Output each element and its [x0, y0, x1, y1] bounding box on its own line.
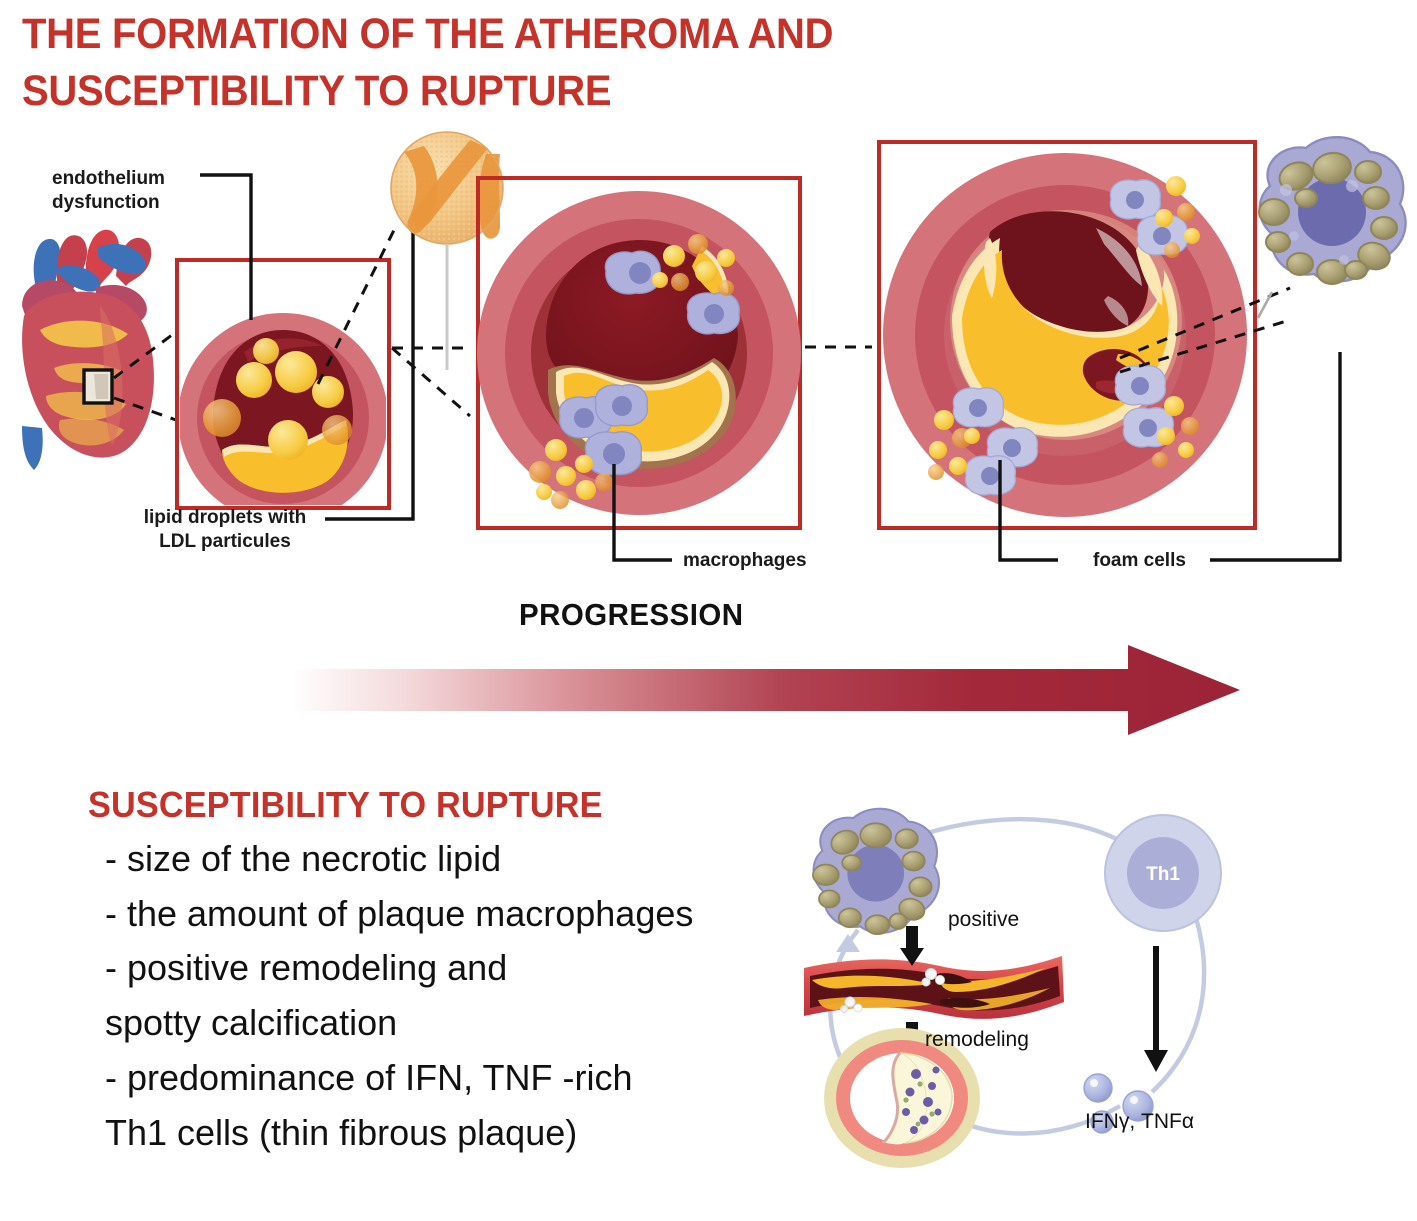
progression-label: PROGRESSION — [519, 597, 744, 633]
th1-cell: Th1 — [1105, 815, 1221, 931]
progression-arrow — [290, 645, 1240, 735]
bullet-item: - size of the necrotic lipid — [105, 832, 845, 887]
cycle-arrowhead — [836, 934, 860, 952]
page-title-line-2: SUSCEPTIBILITY TO RUPTURE — [22, 63, 1045, 120]
leader-endothelium-dysfunction — [200, 175, 251, 320]
label-cytokines: IFNγ, TNFα — [1085, 1110, 1194, 1134]
page-title: THE FORMATION OF THE ATHEROMA AND SUSCEP… — [22, 6, 1045, 120]
susceptibility-heading: SUSCEPTIBILITY TO RUPTURE — [88, 784, 603, 826]
stage-1-artery — [177, 260, 389, 523]
label-macrophages: macrophages — [683, 549, 807, 573]
page-title-line-1: THE FORMATION OF THE ATHEROMA AND — [22, 6, 1045, 63]
remodeling-vessel-longitudinal — [804, 956, 1064, 1019]
stage-2-artery — [477, 178, 801, 528]
connector-stage1-to-stage2 — [392, 348, 470, 416]
ldl-particle — [391, 132, 503, 244]
label-remodeling: remodeling — [925, 1028, 1029, 1052]
bullet-item: - positive remodeling and — [105, 941, 845, 996]
foam-cell-stem — [1258, 292, 1272, 318]
th1-label: Th1 — [1146, 864, 1180, 885]
bullet-item: - predominance of IFN, TNF -rich — [105, 1051, 845, 1106]
label-endothelium-dysfunction: endothelium dysfunction — [52, 167, 165, 216]
susceptibility-bullet-list: - size of the necrotic lipid - the amoun… — [105, 832, 845, 1160]
cytokine-arrow — [1144, 946, 1168, 1072]
bullet-item: - the amount of plaque macrophages — [105, 887, 845, 942]
rupture-cycle-diagram: Th1 — [780, 770, 1280, 1190]
cycle-foam-cell — [813, 809, 939, 934]
bullet-item: spotty calcification — [105, 996, 845, 1051]
stage-3-artery — [879, 142, 1255, 528]
label-foam-cells: foam cells — [1093, 549, 1186, 573]
label-positive: positive — [948, 908, 1019, 932]
label-lipid-droplets: lipid droplets with LDL particules — [125, 506, 325, 555]
heart-illustration — [22, 230, 154, 470]
bullet-item: Th1 cells (thin fibrous plaque) — [105, 1106, 845, 1161]
foam-cell-illustration — [1259, 137, 1406, 284]
